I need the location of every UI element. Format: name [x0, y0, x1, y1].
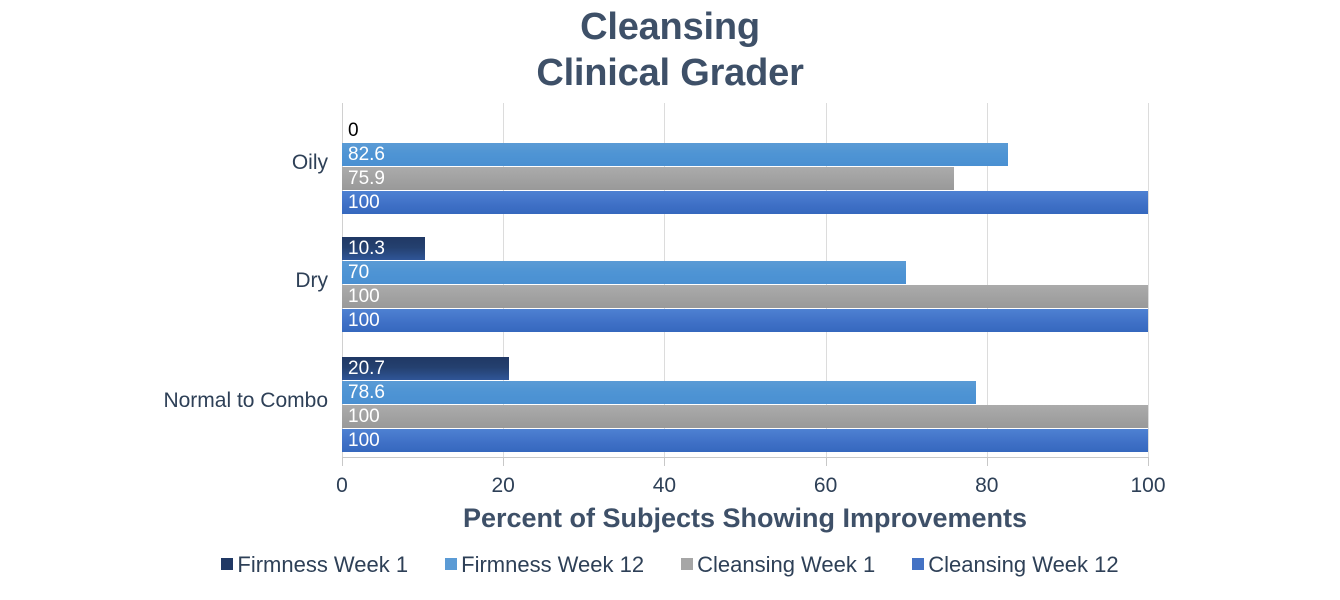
bar-row: 20.7	[342, 356, 1148, 380]
bar-group-dry: 10.370100100	[342, 236, 1148, 332]
chart-title-line-2: Clinical Grader	[0, 50, 1340, 96]
bar-value-label: 70	[342, 261, 369, 284]
bar-normal-to-combo-series-1[interactable]	[342, 381, 976, 404]
bar-row: 100	[342, 284, 1148, 308]
category-label-normal-to-combo: Normal to Combo	[163, 389, 328, 413]
x-tick-100	[1148, 457, 1149, 466]
x-tick-40	[664, 457, 665, 466]
legend-swatch-icon	[912, 558, 924, 570]
x-tick-label-100: 100	[1130, 474, 1165, 498]
legend-item-cleansing-week-1[interactable]: Cleansing Week 1	[681, 552, 875, 578]
bar-group-normal-to-combo: 20.778.6100100	[342, 356, 1148, 452]
bar-group-oily: 082.675.9100	[342, 118, 1148, 214]
bar-value-label: 100	[342, 285, 380, 308]
bar-normal-to-combo-series-3[interactable]	[342, 429, 1148, 452]
gridline-100	[1148, 103, 1149, 457]
category-label-oily: Oily	[292, 151, 328, 175]
bar-oily-series-1[interactable]	[342, 143, 1008, 166]
bar-row: 82.6	[342, 142, 1148, 166]
legend-label: Cleansing Week 12	[928, 552, 1118, 578]
bar-value-label: 78.6	[342, 381, 385, 404]
bar-row: 0	[342, 118, 1148, 142]
chart-legend: Firmness Week 1Firmness Week 12Cleansing…	[0, 552, 1340, 578]
x-axis-line	[342, 457, 1149, 458]
legend-item-firmness-week-12[interactable]: Firmness Week 12	[445, 552, 644, 578]
bar-value-label: 75.9	[342, 167, 385, 190]
bar-row: 78.6	[342, 380, 1148, 404]
category-label-dry: Dry	[295, 269, 328, 293]
x-axis-title: Percent of Subjects Showing Improvements	[342, 503, 1148, 534]
x-tick-label-0: 0	[336, 474, 348, 498]
chart-title-line-1: Cleansing	[580, 6, 760, 48]
legend-swatch-icon	[445, 558, 457, 570]
legend-item-cleansing-week-12[interactable]: Cleansing Week 12	[912, 552, 1118, 578]
x-tick-label-80: 80	[975, 474, 998, 498]
bar-value-label: 100	[342, 429, 380, 452]
plot-area: 082.675.910010.37010010020.778.6100100	[342, 103, 1148, 457]
legend-swatch-icon	[221, 558, 233, 570]
x-tick-label-20: 20	[492, 474, 515, 498]
bar-row: 10.3	[342, 236, 1148, 260]
bar-value-label: 0	[342, 119, 359, 142]
x-tick-label-60: 60	[814, 474, 837, 498]
bar-oily-series-3[interactable]	[342, 191, 1148, 214]
bar-normal-to-combo-series-2[interactable]	[342, 405, 1148, 428]
legend-swatch-icon	[681, 558, 693, 570]
x-tick-60	[826, 457, 827, 466]
bar-value-label: 100	[342, 309, 380, 332]
bar-dry-series-2[interactable]	[342, 285, 1148, 308]
legend-label: Cleansing Week 1	[697, 552, 875, 578]
bar-value-label: 10.3	[342, 237, 385, 260]
bar-value-label: 100	[342, 191, 380, 214]
bar-value-label: 100	[342, 405, 380, 428]
chart-title: Cleansing Clinical Grader	[0, 4, 1340, 97]
x-tick-0	[342, 457, 343, 466]
bar-dry-series-3[interactable]	[342, 309, 1148, 332]
x-tick-20	[503, 457, 504, 466]
bar-value-label: 20.7	[342, 357, 385, 380]
x-tick-label-40: 40	[653, 474, 676, 498]
bar-dry-series-1[interactable]	[342, 261, 906, 284]
bar-row: 75.9	[342, 166, 1148, 190]
legend-item-firmness-week-1[interactable]: Firmness Week 1	[221, 552, 408, 578]
legend-label: Firmness Week 1	[237, 552, 408, 578]
chart-container: Cleansing Clinical Grader 082.675.910010…	[0, 0, 1340, 600]
bar-row: 100	[342, 308, 1148, 332]
bar-row: 70	[342, 260, 1148, 284]
bar-row: 100	[342, 404, 1148, 428]
bar-row: 100	[342, 190, 1148, 214]
legend-label: Firmness Week 12	[461, 552, 644, 578]
bar-value-label: 82.6	[342, 143, 385, 166]
bar-oily-series-2[interactable]	[342, 167, 954, 190]
x-tick-80	[987, 457, 988, 466]
bar-row: 100	[342, 428, 1148, 452]
